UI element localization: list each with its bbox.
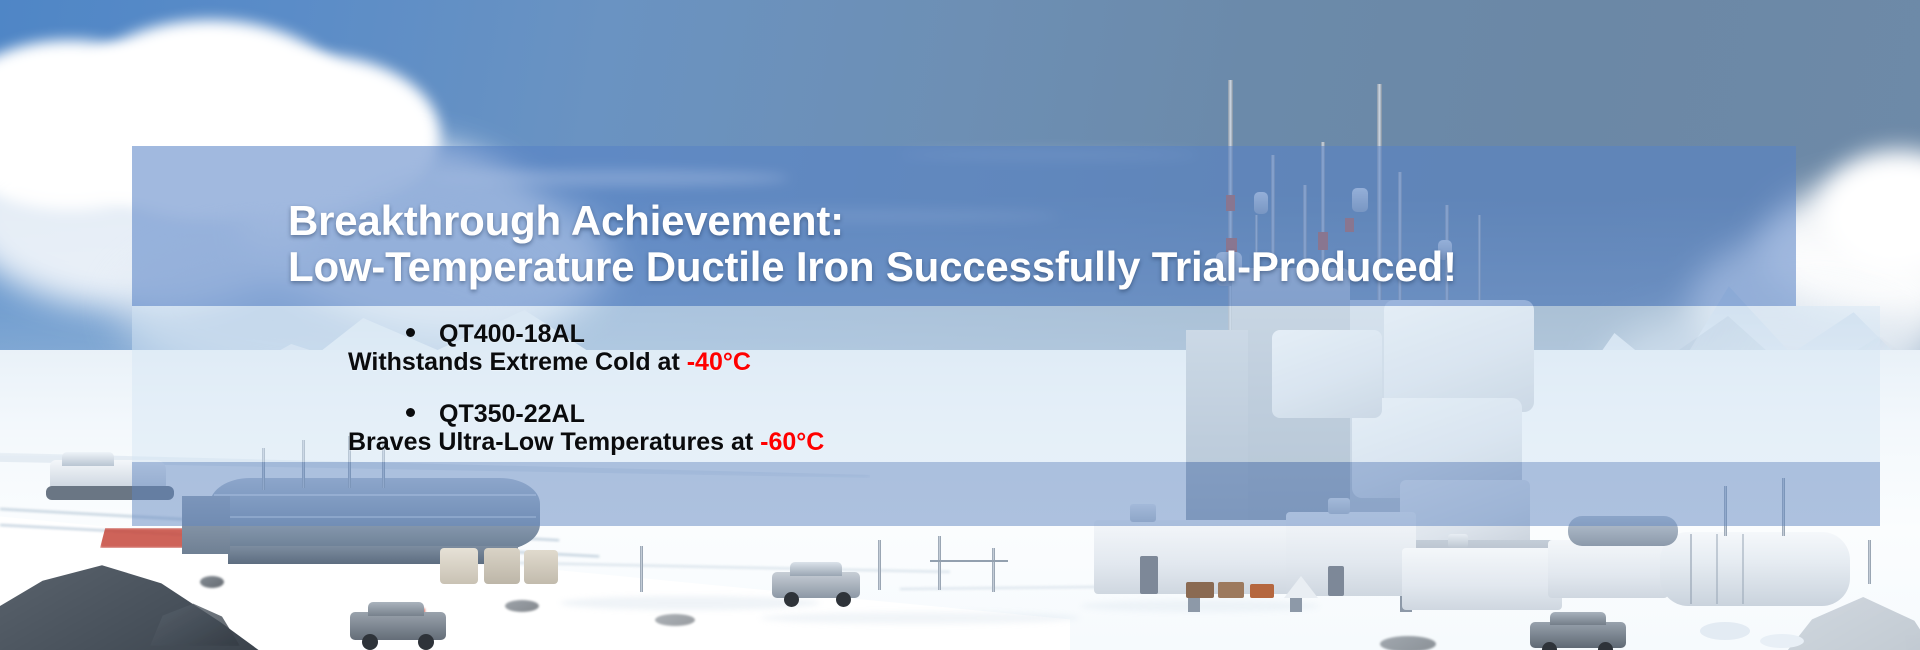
headline-line-1: Breakthrough Achievement: [288, 198, 1457, 244]
fence-rail [930, 560, 1008, 562]
feature-grade-row: QT350-22AL [348, 400, 824, 428]
suv-wheel [1542, 642, 1557, 650]
feature-claim-text: Withstands Extreme Cold at [348, 348, 687, 376]
roof-vent-icon [1448, 534, 1468, 548]
snow-post-icon [640, 546, 643, 592]
feature-claim-row: Withstands Extreme Cold at -40°C [348, 348, 824, 376]
rock-debris [505, 600, 539, 612]
bullet-dot-icon [406, 328, 415, 337]
feature-list: QT400-18AL Withstands Extreme Cold at -4… [348, 320, 824, 480]
snow-bump-icon [1700, 622, 1750, 640]
storage-box [440, 548, 478, 584]
door-icon [1140, 556, 1158, 594]
suv-wheel [1598, 642, 1613, 650]
station-module [1548, 540, 1668, 598]
suv-wheel [418, 634, 434, 650]
bullet-dot-icon [406, 408, 415, 417]
snow-drift-shade [1080, 600, 1320, 612]
feature-grade: QT400-18AL [439, 320, 585, 348]
rock-debris [200, 576, 224, 588]
snow-post-icon [878, 540, 881, 590]
feature-claim-row: Braves Ultra-Low Temperatures at -60°C [348, 428, 824, 456]
list-item: QT400-18AL Withstands Extreme Cold at -4… [348, 320, 824, 376]
snow-vehicle-cab [62, 452, 114, 466]
promo-banner: Breakthrough Achievement: Low-Temperatur… [0, 0, 1920, 650]
page-title: Breakthrough Achievement: Low-Temperatur… [288, 198, 1457, 290]
suv-wheel [784, 592, 799, 607]
tank-rib [1716, 534, 1718, 604]
suv-roof [368, 602, 424, 616]
snow-bump-icon [1760, 634, 1804, 648]
storage-box [524, 550, 558, 584]
storage-box [484, 548, 520, 584]
snow-post-icon [992, 548, 995, 592]
storage-tank [1660, 532, 1850, 606]
tank-rib [1742, 534, 1744, 604]
suv-wheel [836, 592, 851, 607]
feature-temperature: -40°C [687, 348, 751, 376]
feature-claim-text: Braves Ultra-Low Temperatures at [348, 428, 760, 456]
suv-wheel [362, 634, 378, 650]
snow-post-icon [938, 536, 941, 590]
door-icon [1328, 566, 1344, 596]
suv-roof [790, 562, 842, 576]
feature-temperature: -60°C [760, 428, 824, 456]
crate-icon [1250, 584, 1274, 598]
antenna-mast-icon [1868, 540, 1871, 584]
tank-rib [1690, 534, 1692, 604]
headline-line-2: Low-Temperature Ductile Iron Successfull… [288, 244, 1457, 290]
rock-debris [1380, 636, 1436, 650]
station-module [1402, 548, 1562, 610]
crate-icon [1218, 582, 1244, 598]
snow-drift-shade [560, 596, 820, 610]
suv-roof [1550, 612, 1606, 625]
feature-grade-row: QT400-18AL [348, 320, 824, 348]
snow-drift-shade [760, 612, 1080, 624]
list-item: QT350-22AL Braves Ultra-Low Temperatures… [348, 400, 824, 456]
feature-grade: QT350-22AL [439, 400, 585, 428]
crate-icon [1186, 582, 1214, 598]
rock-debris [655, 614, 695, 626]
